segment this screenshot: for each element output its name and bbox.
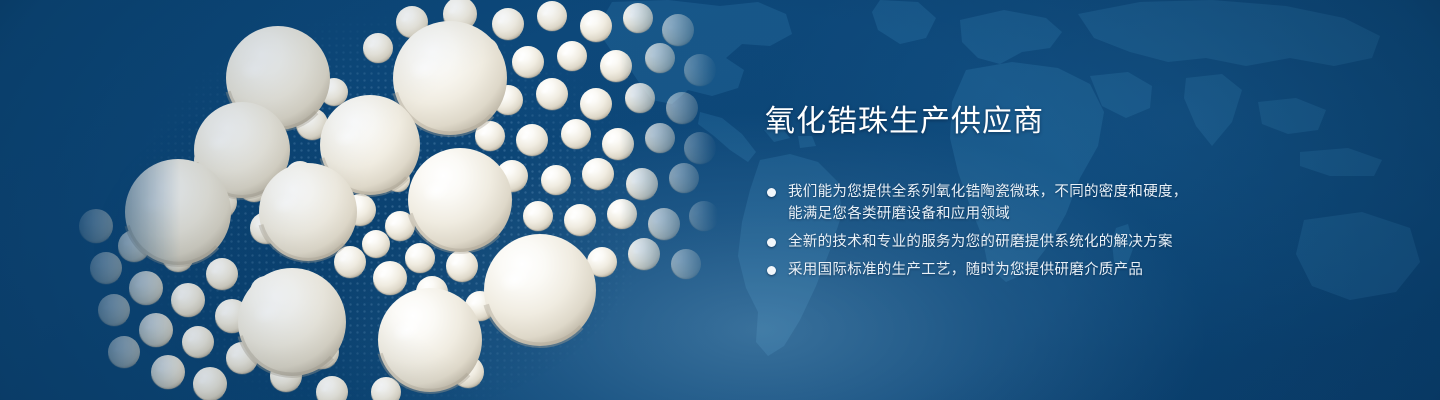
list-item: 全新的技术和专业的服务为您的研磨提供系统化的解决方案 — [765, 231, 1365, 253]
list-item-line: 我们能为您提供全系列氧化锆陶瓷微珠，不同的密度和硬度， — [788, 181, 1365, 203]
feature-list: 我们能为您提供全系列氧化锆陶瓷微珠，不同的密度和硬度， 能满足您各类研磨设备和应… — [765, 181, 1365, 281]
list-item-line: 采用国际标准的生产工艺，随时为您提供研磨介质产品 — [788, 259, 1365, 281]
banner-copy: 氧化锆珠生产供应商 我们能为您提供全系列氧化锆陶瓷微珠，不同的密度和硬度， 能满… — [765, 104, 1365, 281]
list-item: 采用国际标准的生产工艺，随时为您提供研磨介质产品 — [765, 259, 1365, 281]
page-title: 氧化锆珠生产供应商 — [765, 104, 1365, 139]
bullet-dot-icon — [767, 188, 776, 197]
list-item: 我们能为您提供全系列氧化锆陶瓷微珠，不同的密度和硬度， 能满足您各类研磨设备和应… — [765, 181, 1365, 225]
list-item-line: 能满足您各类研磨设备和应用领域 — [788, 203, 1365, 225]
bullet-dot-icon — [767, 266, 776, 275]
zirconia-beads-photo — [60, 0, 720, 400]
list-item-line: 全新的技术和专业的服务为您的研磨提供系统化的解决方案 — [788, 231, 1365, 253]
bullet-dot-icon — [767, 238, 776, 247]
hero-banner: 氧化锆珠生产供应商 我们能为您提供全系列氧化锆陶瓷微珠，不同的密度和硬度， 能满… — [0, 0, 1440, 400]
